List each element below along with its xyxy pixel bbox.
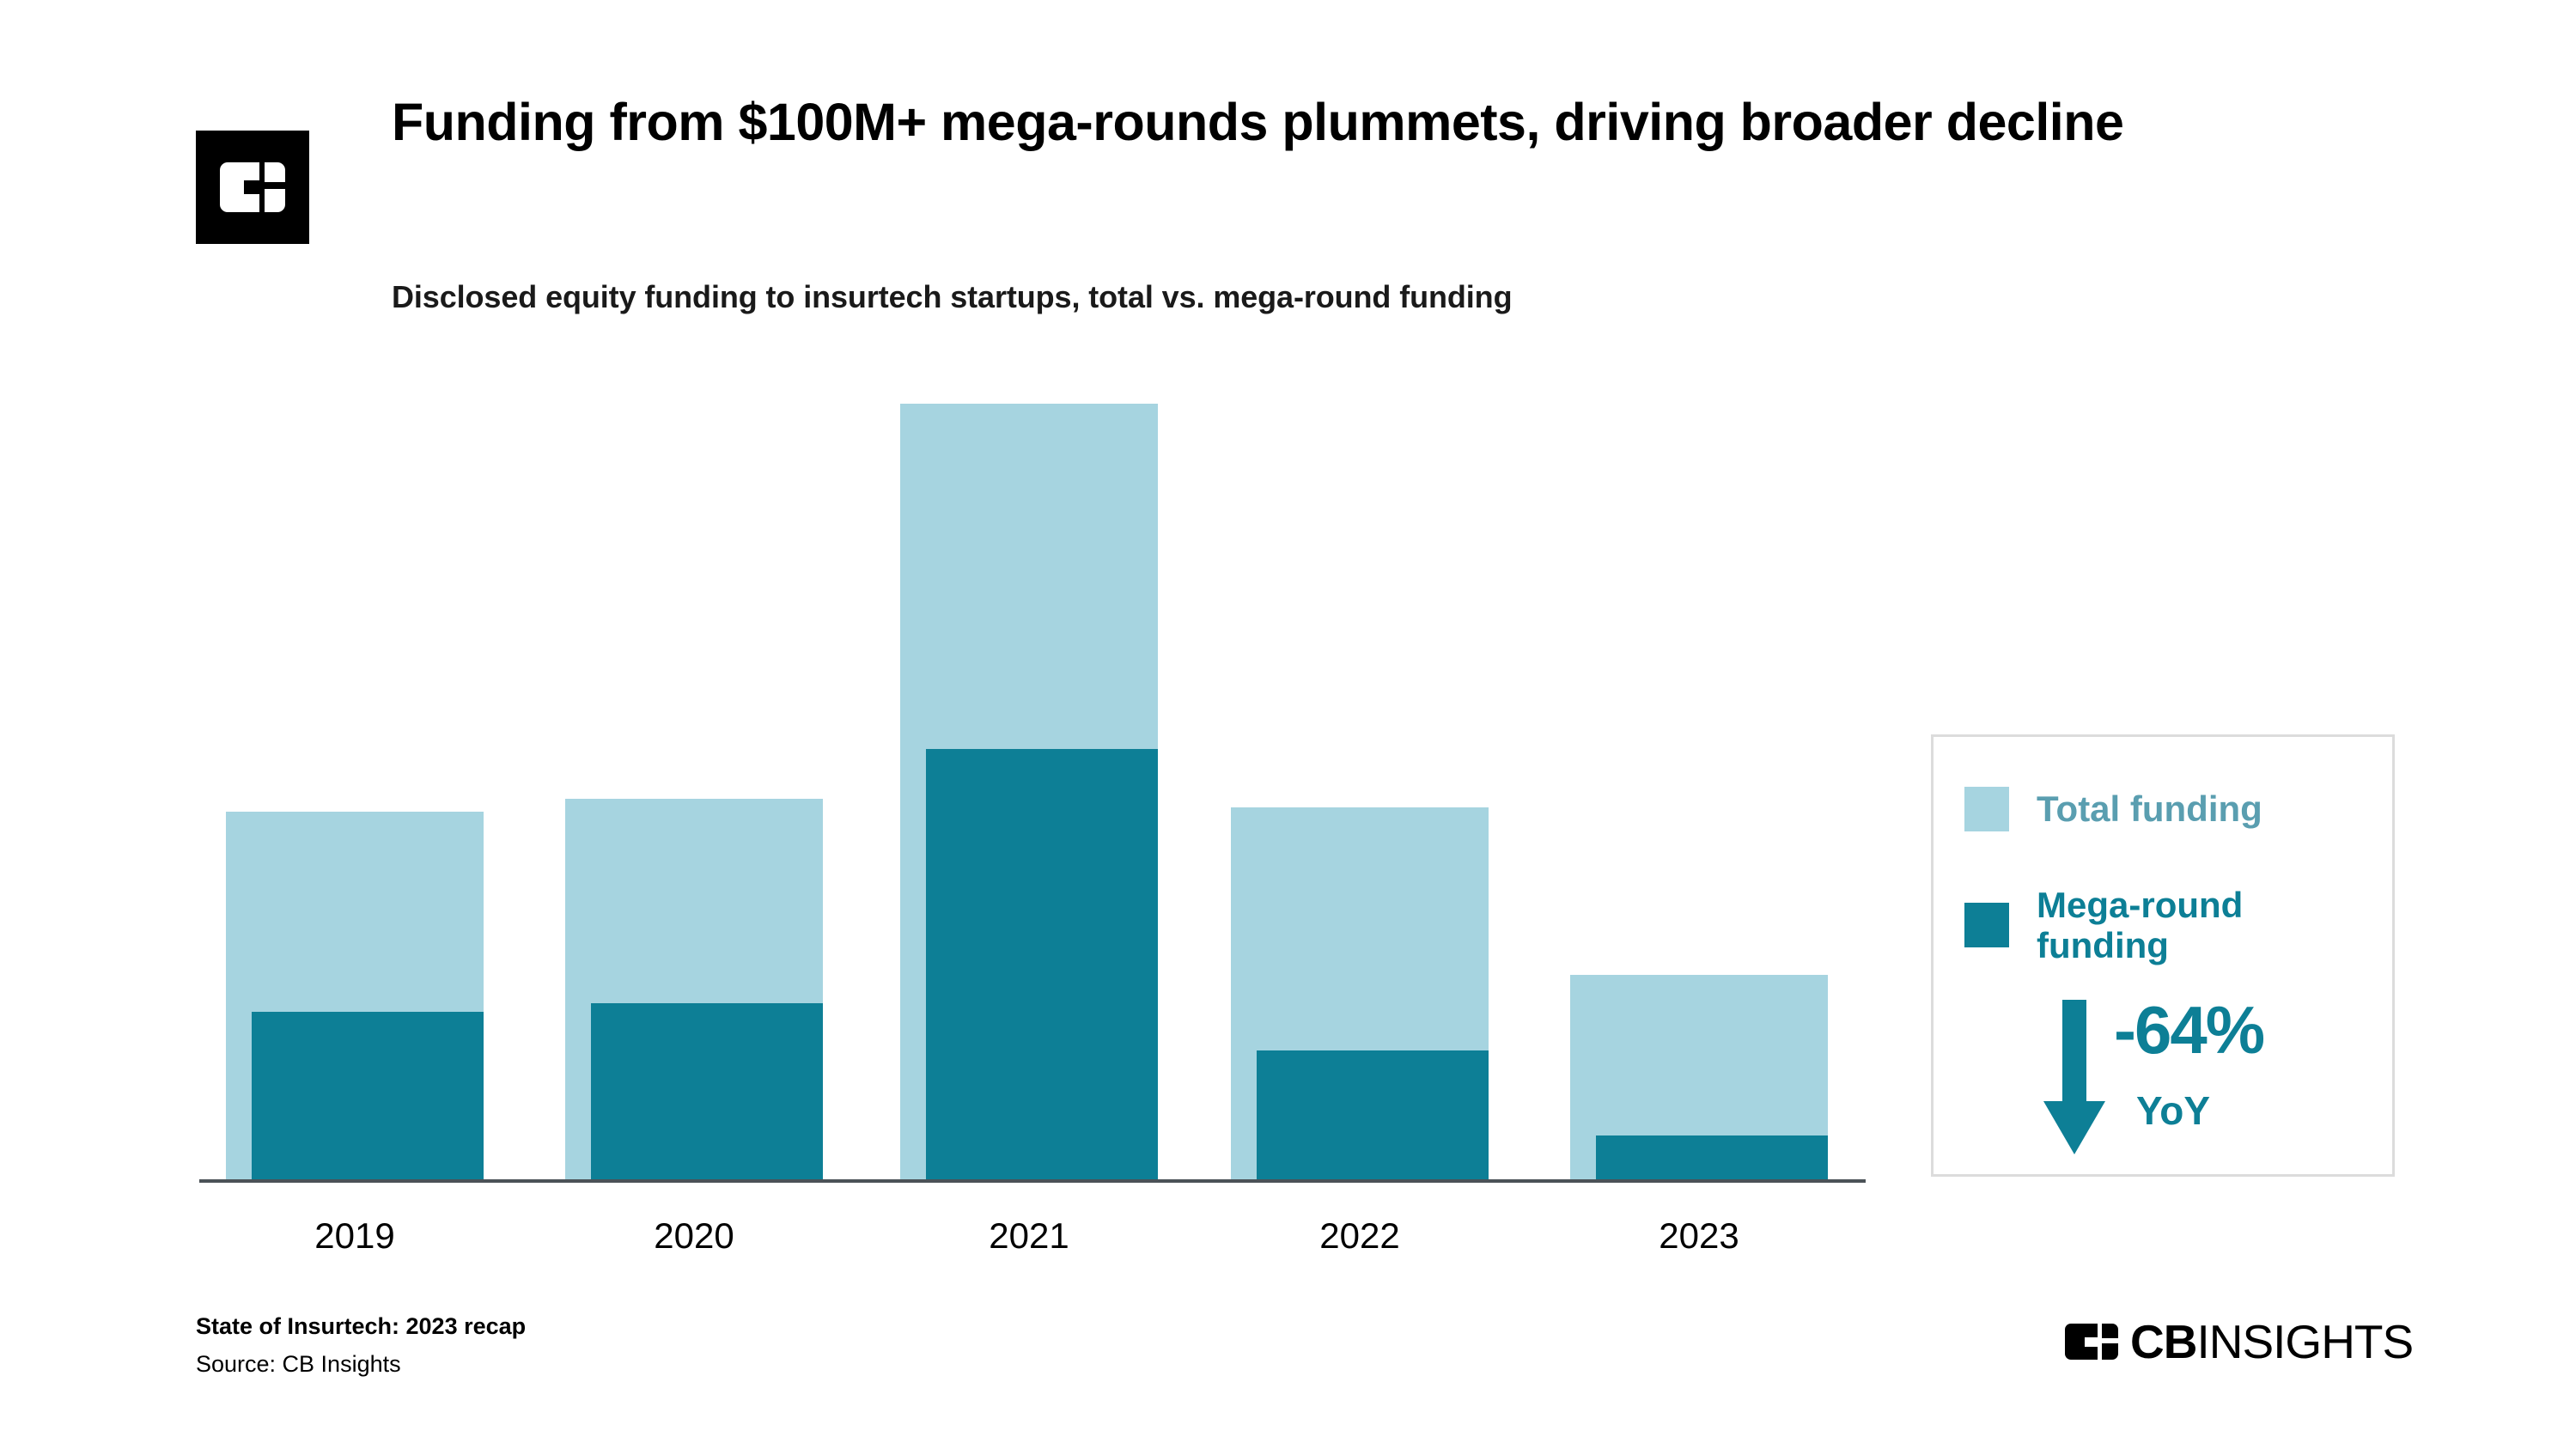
- bar-mega-2022: [1257, 1050, 1489, 1181]
- legend-label-mega: Mega-round funding: [2037, 885, 2243, 965]
- x-tick-2022: 2022: [1231, 1215, 1489, 1257]
- fl-mark-bottom-right: [2102, 1343, 2118, 1360]
- legend-label-total: Total funding: [2037, 788, 2262, 829]
- cb-insights-wordmark-logo: CB INSIGHTS: [2065, 1317, 2413, 1367]
- x-axis-line: [199, 1179, 1866, 1183]
- legend-swatch-total-icon: [1964, 787, 2009, 831]
- arrow-stem: [2062, 1000, 2086, 1105]
- chart-legend: Total funding Mega-round funding -64% Yo…: [1931, 734, 2395, 1177]
- legend-item-mega-round-funding: Mega-round funding: [1964, 885, 2243, 965]
- yoy-period-label: YoY: [2136, 1087, 2210, 1134]
- legend-swatch-mega-icon: [1964, 903, 2009, 947]
- plot-area: $7.9B $3.6B $8.5B $3.8B $17.0B $9.5B $8.…: [0, 0, 2576, 1449]
- bar-mega-2021: [926, 749, 1158, 1181]
- logo-text-insights: INSIGHTS: [2196, 1314, 2413, 1369]
- chart-canvas: Funding from $100M+ mega-rounds plummets…: [0, 0, 2576, 1449]
- yoy-callout: -64% YoY: [2043, 995, 2387, 1158]
- bar-mega-2023: [1596, 1135, 1828, 1181]
- x-tick-2020: 2020: [565, 1215, 823, 1257]
- footer-report-title: State of Insurtech: 2023 recap: [196, 1313, 526, 1340]
- x-tick-2019: 2019: [226, 1215, 484, 1257]
- arrow-head: [2043, 1101, 2105, 1154]
- logo-text-cb: CB: [2130, 1314, 2196, 1369]
- fl-mark-notch: [2085, 1337, 2099, 1347]
- footer-source: Source: CB Insights: [196, 1351, 401, 1378]
- fl-mark-top-right: [2102, 1324, 2118, 1338]
- yoy-percent-value: -64%: [2114, 991, 2263, 1069]
- arrow-down-icon: [2043, 1000, 2105, 1154]
- bar-mega-2019: [252, 1012, 484, 1181]
- legend-item-total-funding: Total funding: [1964, 787, 2262, 831]
- x-tick-2021: 2021: [900, 1215, 1158, 1257]
- x-tick-2023: 2023: [1570, 1215, 1828, 1257]
- bar-mega-2020: [591, 1003, 823, 1181]
- cb-insights-mark-icon: [2065, 1324, 2118, 1360]
